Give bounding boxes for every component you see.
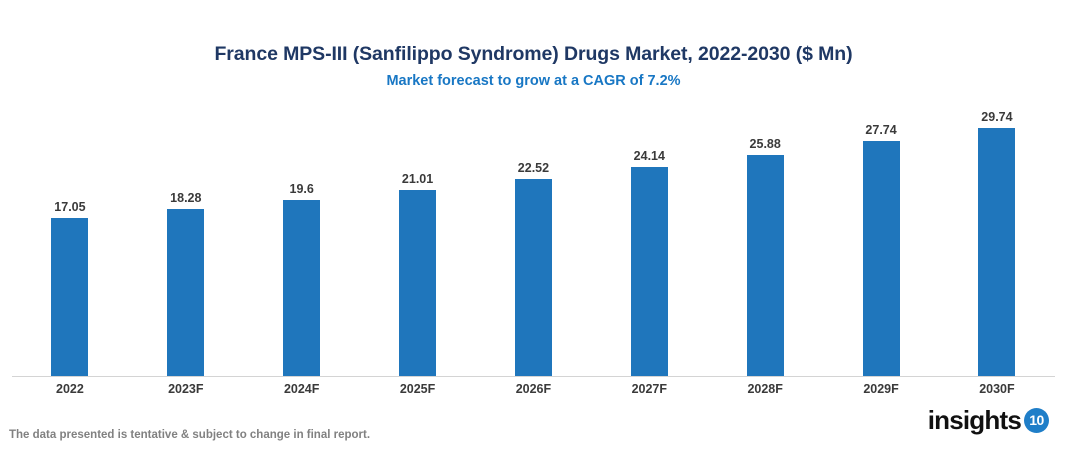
chart-subtitle: Market forecast to grow at a CAGR of 7.2… <box>0 72 1067 90</box>
bar-rect[interactable] <box>747 155 784 376</box>
x-axis-tick-label: 2025F <box>360 379 475 399</box>
bar-group: 18.28 <box>128 110 243 376</box>
bar-group: 21.01 <box>360 110 475 376</box>
bar-rect[interactable] <box>167 209 204 376</box>
bar-value-label: 21.01 <box>402 172 433 186</box>
disclaimer-text: The data presented is tentative & subjec… <box>9 428 370 442</box>
bar-group: 25.88 <box>708 110 823 376</box>
bar-group: 17.05 <box>12 110 127 376</box>
bar-value-label: 29.74 <box>981 110 1012 124</box>
bar-value-label: 25.88 <box>750 137 781 151</box>
bars-row: 17.05 18.28 19.6 21.01 22.52 24.14 <box>12 110 1055 376</box>
bar-value-label: 22.52 <box>518 161 549 175</box>
x-axis-tick-label: 2027F <box>592 379 707 399</box>
bar-rect[interactable] <box>978 128 1015 376</box>
chart-title: France MPS-III (Sanfilippo Syndrome) Dru… <box>0 42 1067 66</box>
bar-rect[interactable] <box>283 200 320 376</box>
logo-wordmark: insights <box>928 406 1021 434</box>
bar-rect[interactable] <box>399 190 436 376</box>
bar-rect[interactable] <box>631 167 668 376</box>
x-axis-labels: 2022 2023F 2024F 2025F 2026F 2027F 2028F… <box>12 379 1055 399</box>
bar-group: 27.74 <box>824 110 939 376</box>
x-axis-tick-label: 2023F <box>128 379 243 399</box>
bar-value-label: 24.14 <box>634 149 665 163</box>
logo-badge-icon: 10 <box>1024 408 1049 433</box>
bar-group: 24.14 <box>592 110 707 376</box>
bar-value-label: 18.28 <box>170 191 201 205</box>
bar-group: 19.6 <box>244 110 359 376</box>
plot-area: 17.05 18.28 19.6 21.01 22.52 24.14 <box>0 110 1067 377</box>
bar-rect[interactable] <box>515 179 552 376</box>
x-axis-tick-label: 2024F <box>244 379 359 399</box>
x-axis-tick-label: 2029F <box>824 379 939 399</box>
chart-figure: France MPS-III (Sanfilippo Syndrome) Dru… <box>0 0 1067 454</box>
x-axis-tick-label: 2028F <box>708 379 823 399</box>
x-axis-tick-label: 2026F <box>476 379 591 399</box>
bar-value-label: 27.74 <box>865 123 896 137</box>
x-axis-tick-label: 2030F <box>939 379 1054 399</box>
title-block: France MPS-III (Sanfilippo Syndrome) Dru… <box>0 42 1067 90</box>
bar-value-label: 17.05 <box>54 200 85 214</box>
x-axis-tick-label: 2022 <box>12 379 127 399</box>
bar-value-label: 19.6 <box>290 182 314 196</box>
bar-rect[interactable] <box>51 218 88 376</box>
bar-group: 22.52 <box>476 110 591 376</box>
bar-rect[interactable] <box>863 141 900 376</box>
x-axis-line <box>12 376 1055 377</box>
bar-group: 29.74 <box>939 110 1054 376</box>
insights10-logo: insights 10 <box>928 406 1049 434</box>
